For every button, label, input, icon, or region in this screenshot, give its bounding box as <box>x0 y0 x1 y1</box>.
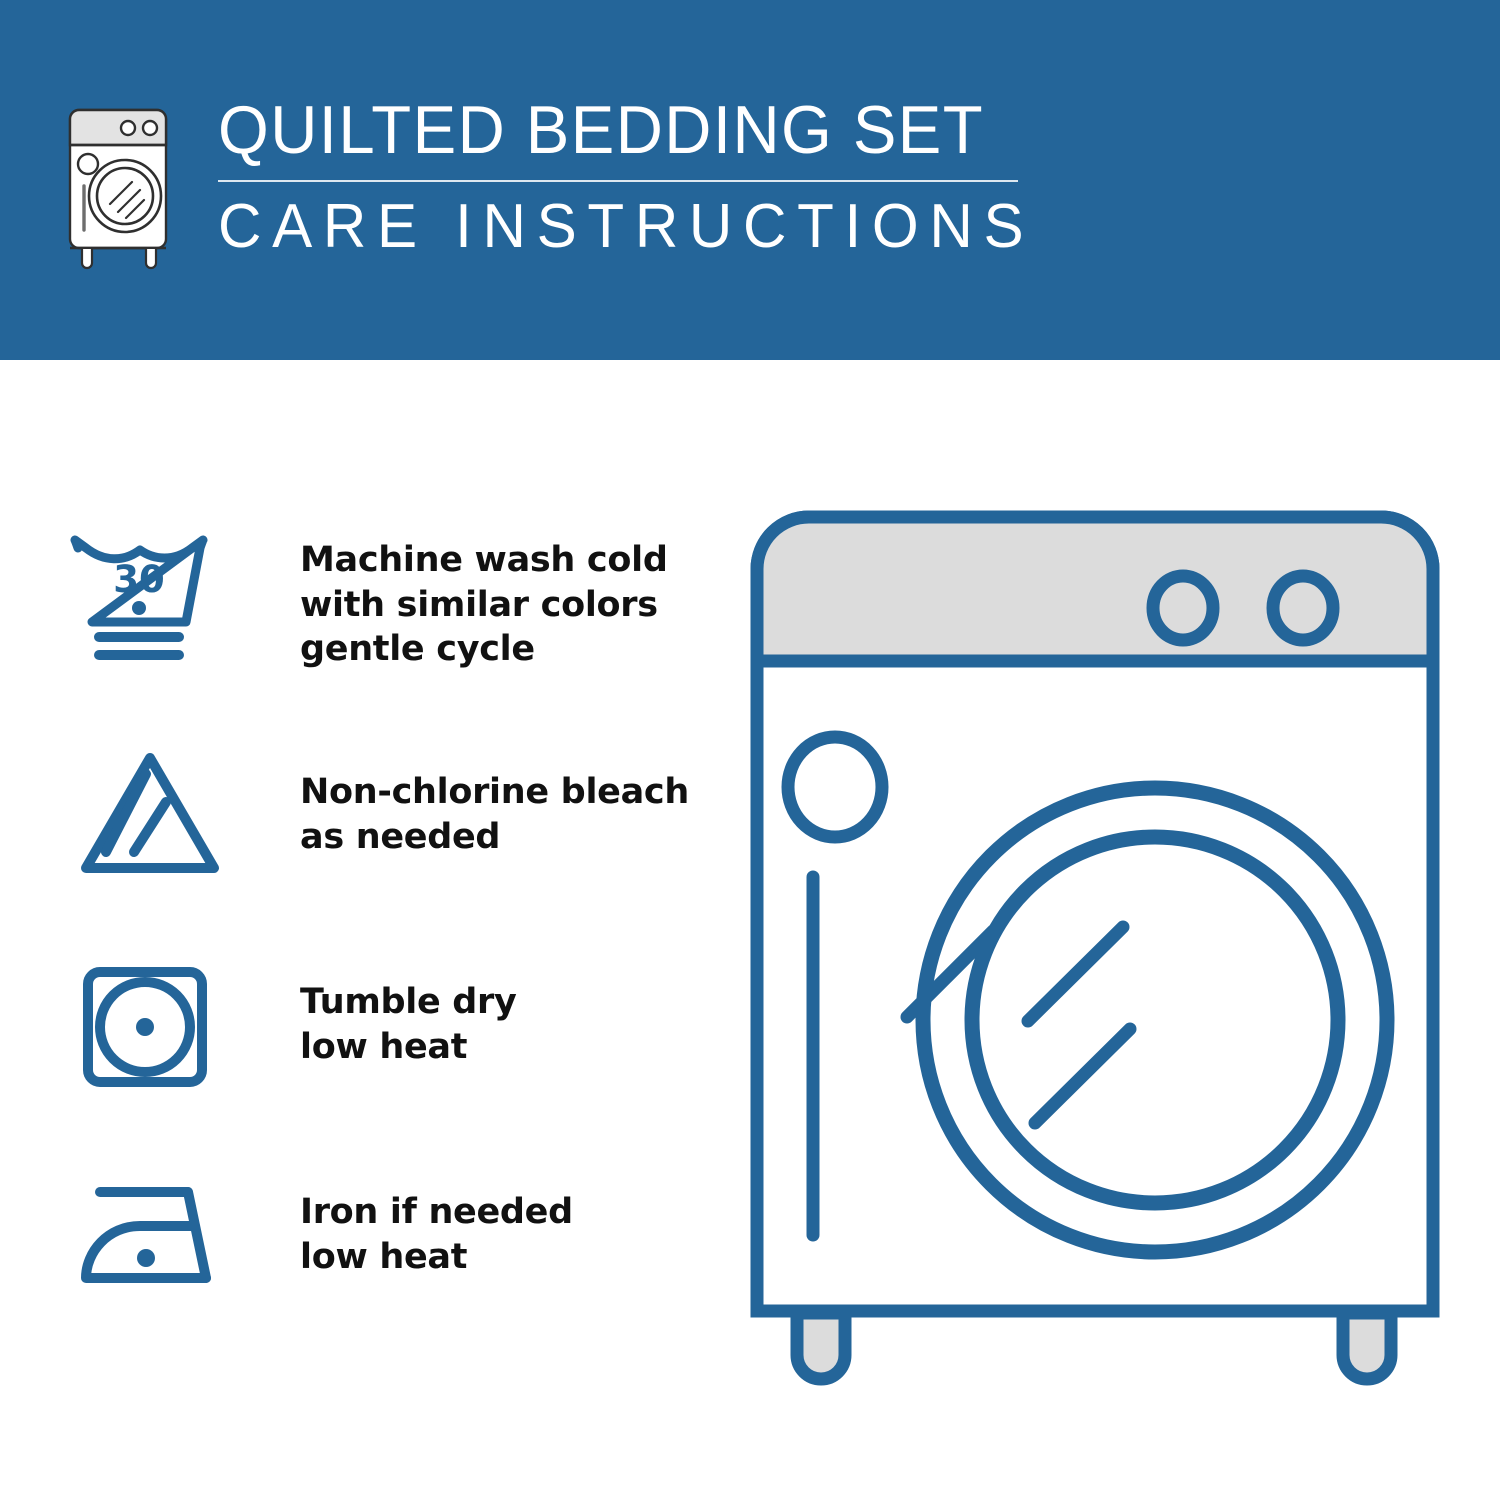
wash-tub-30-gentle-icon: 30 <box>62 530 237 680</box>
care-row-bleach: Non-chlorine bleach as needed <box>62 710 722 920</box>
title-divider <box>218 180 1018 182</box>
non-chlorine-bleach-triangle-icon <box>62 740 237 890</box>
tumble-dry-low-icon <box>62 950 237 1100</box>
wash-temperature-label: 30 <box>113 558 165 601</box>
care-symbol-iron <box>62 1160 252 1310</box>
washing-machine-illustration <box>735 495 1455 1405</box>
care-instruction-list: 30 Machine wash cold with similar colors… <box>62 500 722 1340</box>
header-title-block: QUILTED BEDDING SET CARE INSTRUCTIONS <box>218 96 1018 258</box>
care-label-line: gentle cycle <box>300 627 668 672</box>
care-instructions-infographic: QUILTED BEDDING SET CARE INSTRUCTIONS 30 <box>0 0 1500 1500</box>
care-label-bleach: Non-chlorine bleach as needed <box>252 770 689 860</box>
knob-right <box>1273 576 1333 640</box>
care-label-line: as needed <box>300 815 689 860</box>
knob-left <box>1153 576 1213 640</box>
washing-machine-icon <box>62 104 180 272</box>
leg-right <box>1343 1313 1391 1379</box>
care-label-line: low heat <box>300 1235 573 1280</box>
care-label-line: low heat <box>300 1025 517 1070</box>
care-row-tumble-dry: Tumble dry low heat <box>62 920 722 1130</box>
detergent-dispenser <box>788 737 882 837</box>
care-label-iron: Iron if needed low heat <box>252 1190 573 1280</box>
care-row-iron: Iron if needed low heat <box>62 1130 722 1340</box>
care-symbol-wash: 30 <box>62 530 252 680</box>
page-subtitle: CARE INSTRUCTIONS <box>218 196 994 258</box>
page-title: QUILTED BEDDING SET <box>218 96 986 164</box>
care-label-line: Non-chlorine bleach <box>300 770 689 815</box>
care-label-line: Iron if needed <box>300 1190 573 1235</box>
iron-low-heat-icon <box>62 1160 237 1310</box>
care-symbol-bleach <box>62 740 252 890</box>
care-label-tumble-dry: Tumble dry low heat <box>252 980 517 1070</box>
care-label-line: Machine wash cold <box>300 538 668 583</box>
care-symbol-tumble-dry <box>62 950 252 1100</box>
care-row-wash: 30 Machine wash cold with similar colors… <box>62 500 722 710</box>
leg-left <box>797 1313 845 1379</box>
care-label-line: with similar colors <box>300 583 668 628</box>
header-content: QUILTED BEDDING SET CARE INSTRUCTIONS <box>62 96 1018 272</box>
header-banner: QUILTED BEDDING SET CARE INSTRUCTIONS <box>0 0 1500 360</box>
care-label-line: Tumble dry <box>300 980 517 1025</box>
care-label-wash: Machine wash cold with similar colors ge… <box>252 538 668 672</box>
